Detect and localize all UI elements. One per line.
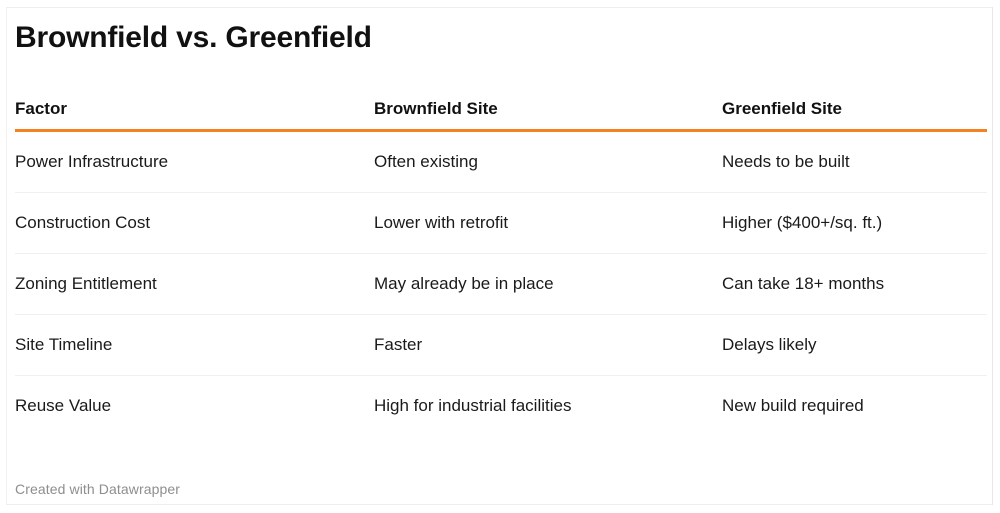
cell-factor: Site Timeline [15, 315, 374, 376]
page-title: Brownfield vs. Greenfield [15, 20, 372, 56]
cell-brownfield: Often existing [374, 131, 722, 193]
table-header: Factor Brownfield Site Greenfield Site [15, 99, 987, 131]
cell-factor: Zoning Entitlement [15, 254, 374, 315]
table-row: Site Timeline Faster Delays likely [15, 315, 987, 376]
column-header-brownfield-site[interactable]: Brownfield Site [374, 99, 722, 131]
cell-brownfield: May already be in place [374, 254, 722, 315]
cell-brownfield: High for industrial facilities [374, 376, 722, 437]
datawrapper-attribution[interactable]: Created with Datawrapper [15, 481, 180, 497]
table-row: Construction Cost Lower with retrofit Hi… [15, 193, 987, 254]
datawrapper-table-card: Brownfield vs. Greenfield Factor Brownfi… [6, 7, 993, 505]
cell-factor: Power Infrastructure [15, 131, 374, 193]
table-body: Power Infrastructure Often existing Need… [15, 131, 987, 437]
cell-greenfield: Higher ($400+/sq. ft.) [722, 193, 987, 254]
column-header-factor[interactable]: Factor [15, 99, 374, 131]
cell-factor: Reuse Value [15, 376, 374, 437]
cell-greenfield: New build required [722, 376, 987, 437]
comparison-table: Factor Brownfield Site Greenfield Site P… [15, 99, 987, 436]
table-header-row: Factor Brownfield Site Greenfield Site [15, 99, 987, 131]
table-row: Zoning Entitlement May already be in pla… [15, 254, 987, 315]
table-container: Factor Brownfield Site Greenfield Site P… [15, 99, 987, 436]
cell-greenfield: Needs to be built [722, 131, 987, 193]
table-row: Power Infrastructure Often existing Need… [15, 131, 987, 193]
cell-factor: Construction Cost [15, 193, 374, 254]
table-row: Reuse Value High for industrial faciliti… [15, 376, 987, 437]
cell-greenfield: Can take 18+ months [722, 254, 987, 315]
cell-brownfield: Faster [374, 315, 722, 376]
column-header-greenfield-site[interactable]: Greenfield Site [722, 99, 987, 131]
cell-greenfield: Delays likely [722, 315, 987, 376]
cell-brownfield: Lower with retrofit [374, 193, 722, 254]
